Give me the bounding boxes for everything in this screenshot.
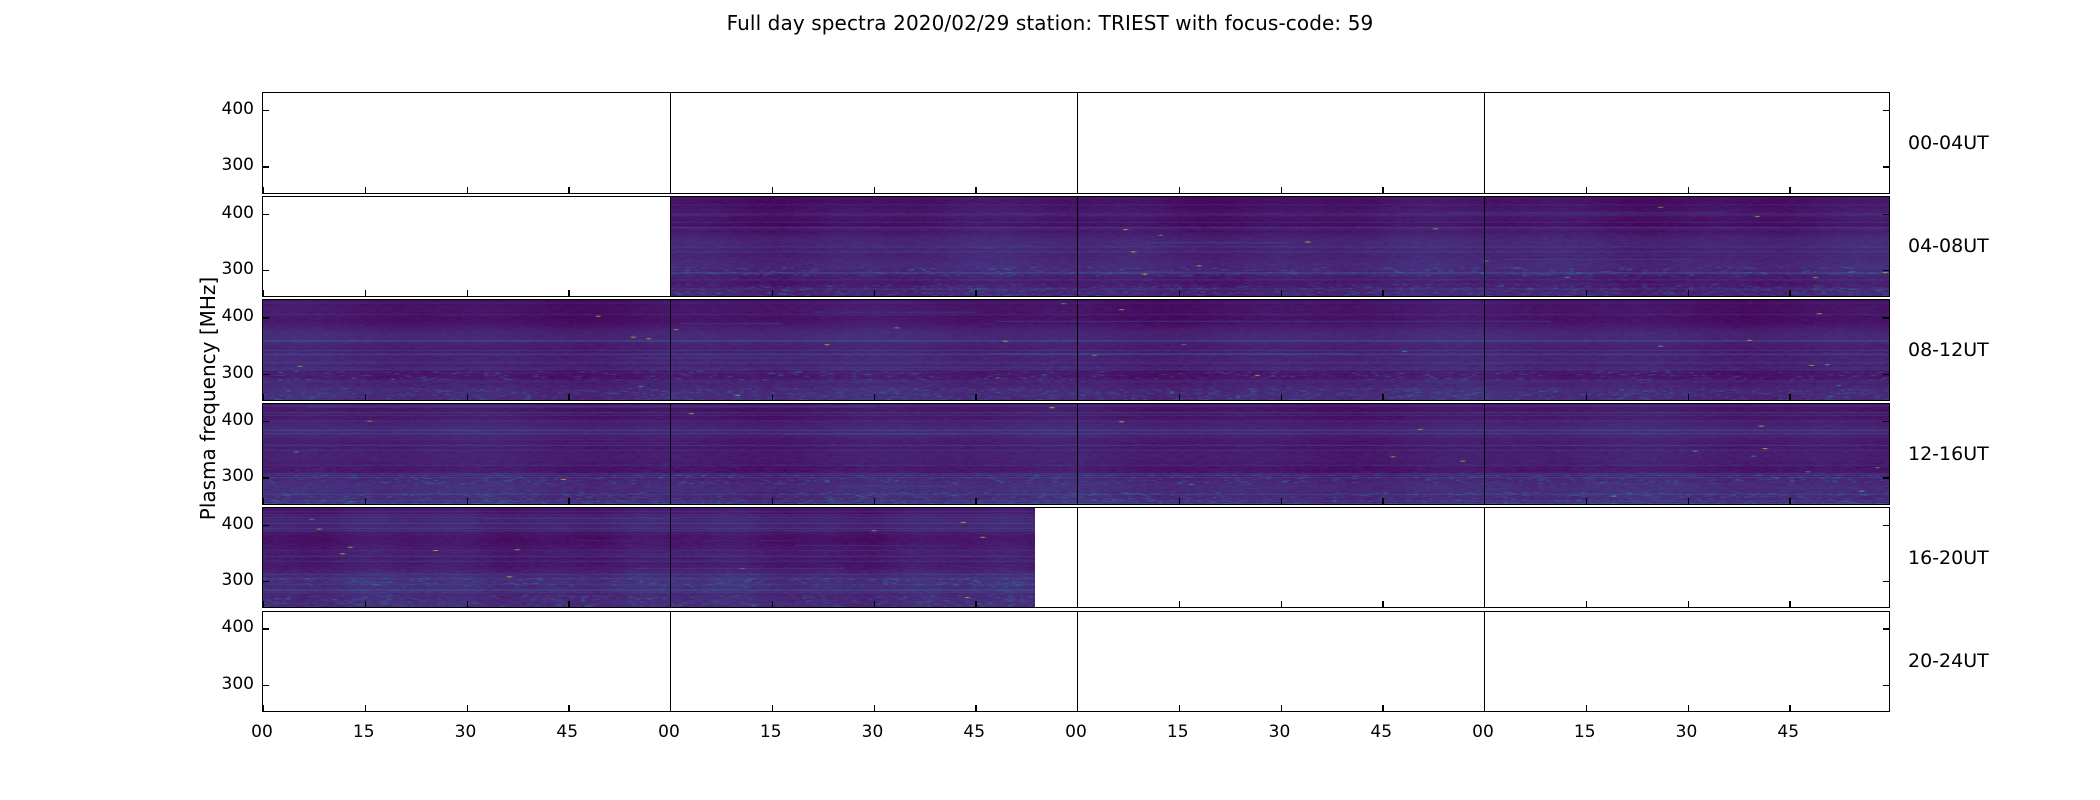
x-tick-mark	[1281, 187, 1282, 193]
x-tick-mark	[1382, 187, 1383, 193]
x-tick-mark	[263, 187, 264, 193]
x-tick-mark	[772, 290, 773, 296]
x-tick-mark	[1179, 705, 1180, 711]
x-tick-mark	[1077, 187, 1078, 193]
row-label-group: 00-04UT04-08UT08-12UT12-16UT16-20UT20-24…	[1908, 92, 2098, 712]
hour-gridline	[1484, 404, 1485, 504]
spectrogram-image	[263, 508, 1035, 608]
x-tick-mark	[975, 498, 976, 504]
x-tick-mark	[467, 394, 468, 400]
x-tick-mark	[1077, 705, 1078, 711]
x-tick-label: 30	[1269, 722, 1291, 742]
x-tick-mark	[772, 498, 773, 504]
hour-gridline	[670, 612, 671, 712]
panel-stack	[262, 92, 1890, 712]
y-tick-mark	[1883, 166, 1889, 167]
spectrogram-canvas	[670, 197, 1890, 297]
x-tick-mark	[365, 601, 366, 607]
y-tick-label: 400	[222, 410, 254, 430]
x-tick-mark	[1789, 601, 1790, 607]
page-title: Full day spectra 2020/02/29 station: TRI…	[0, 11, 2100, 35]
x-tick-mark	[975, 394, 976, 400]
spectrogram-image	[670, 197, 1890, 297]
x-tick-mark	[1586, 394, 1587, 400]
y-tick-mark	[263, 525, 269, 526]
hour-gridline	[1077, 300, 1078, 400]
hour-gridline	[670, 300, 671, 400]
spectrogram-panel[interactable]	[262, 507, 1890, 609]
x-tick-mark	[1586, 290, 1587, 296]
hour-gridline	[1484, 197, 1485, 297]
x-tick-mark	[874, 290, 875, 296]
x-tick-mark	[1484, 705, 1485, 711]
hour-gridline	[1077, 404, 1078, 504]
x-tick-mark	[365, 394, 366, 400]
x-tick-mark	[1077, 498, 1078, 504]
spectrogram-panel[interactable]	[262, 611, 1890, 713]
y-tick-mark	[263, 214, 269, 215]
y-tick-mark	[1883, 317, 1889, 318]
y-tick-mark	[263, 477, 269, 478]
row-label-12-16ut: 12-16UT	[1908, 443, 1989, 465]
x-tick-mark	[1688, 498, 1689, 504]
hour-gridline	[1077, 93, 1078, 193]
x-tick-mark	[1179, 187, 1180, 193]
x-tick-mark	[263, 601, 264, 607]
y-tick-label: 300	[222, 466, 254, 486]
x-tick-mark	[670, 498, 671, 504]
x-tick-label: 30	[862, 722, 884, 742]
x-tick-mark	[365, 290, 366, 296]
y-tick-mark	[263, 110, 269, 111]
x-tick-mark	[568, 705, 569, 711]
hour-gridline	[1484, 508, 1485, 608]
y-tick-label: 400	[222, 99, 254, 119]
y-tick-mark	[1883, 421, 1889, 422]
row-label-04-08ut: 04-08UT	[1908, 235, 1989, 257]
y-tick-mark	[263, 421, 269, 422]
y-tick-mark	[1883, 110, 1889, 111]
y-tick-label: 400	[222, 617, 254, 637]
x-tick-mark	[1179, 290, 1180, 296]
x-tick-mark	[1179, 394, 1180, 400]
x-tick-label: 15	[1574, 722, 1596, 742]
y-tick-label: 300	[222, 570, 254, 590]
spectrogram-panel[interactable]	[262, 92, 1890, 194]
x-tick-mark	[1688, 290, 1689, 296]
x-tick-mark	[1484, 498, 1485, 504]
y-tick-mark	[263, 270, 269, 271]
spectrogram-panel[interactable]	[262, 299, 1890, 401]
x-tick-mark	[365, 705, 366, 711]
y-tick-mark	[1883, 685, 1889, 686]
x-tick-mark	[975, 601, 976, 607]
x-tick-label: 15	[353, 722, 375, 742]
spectrogram-panel[interactable]	[262, 196, 1890, 298]
y-tick-label: 400	[222, 306, 254, 326]
y-tick-mark	[1883, 214, 1889, 215]
y-tick-mark	[1883, 581, 1889, 582]
x-tick-label: 45	[1777, 722, 1799, 742]
x-tick-mark	[1382, 394, 1383, 400]
x-tick-mark	[1281, 601, 1282, 607]
x-tick-mark	[1586, 601, 1587, 607]
x-tick-mark	[772, 601, 773, 607]
x-tick-mark	[1586, 187, 1587, 193]
y-tick-mark	[263, 685, 269, 686]
x-tick-mark	[1281, 394, 1282, 400]
x-tick-mark	[670, 290, 671, 296]
x-tick-mark	[1484, 187, 1485, 193]
row-label-16-20ut: 16-20UT	[1908, 547, 1989, 569]
x-tick-mark	[568, 498, 569, 504]
x-tick-mark	[874, 705, 875, 711]
x-tick-label: 00	[1065, 722, 1087, 742]
x-tick-mark	[263, 290, 264, 296]
hour-gridline	[1077, 612, 1078, 712]
x-tick-mark	[1484, 290, 1485, 296]
hour-gridline	[1484, 300, 1485, 400]
x-tick-mark	[975, 187, 976, 193]
y-tick-mark	[1883, 374, 1889, 375]
x-tick-mark	[1077, 601, 1078, 607]
x-tick-mark	[1382, 498, 1383, 504]
x-tick-mark	[263, 498, 264, 504]
x-tick-mark	[772, 705, 773, 711]
x-tick-mark	[1382, 290, 1383, 296]
x-tick-mark	[772, 394, 773, 400]
hour-gridline	[1077, 508, 1078, 608]
hour-gridline	[1484, 612, 1485, 712]
x-tick-mark	[670, 394, 671, 400]
spectrogram-panel[interactable]	[262, 403, 1890, 505]
x-tick-mark	[1382, 705, 1383, 711]
x-tick-mark	[1586, 498, 1587, 504]
hour-gridline	[670, 508, 671, 608]
y-tick-label: 400	[222, 203, 254, 223]
x-tick-mark	[1077, 394, 1078, 400]
y-tick-mark	[263, 166, 269, 167]
x-tick-mark	[975, 290, 976, 296]
x-tick-mark	[874, 601, 875, 607]
hour-gridline	[670, 197, 671, 297]
y-tick-mark	[263, 374, 269, 375]
x-tick-mark	[263, 705, 264, 711]
y-tick-label: 300	[222, 674, 254, 694]
y-tick-label-group: 400300400300400300400300400300400300	[210, 92, 254, 712]
x-tick-mark	[874, 394, 875, 400]
x-tick-mark	[365, 498, 366, 504]
x-tick-mark	[467, 498, 468, 504]
x-tick-label: 45	[556, 722, 578, 742]
x-tick-mark	[568, 394, 569, 400]
x-tick-mark	[1789, 705, 1790, 711]
hour-gridline	[670, 93, 671, 193]
x-tick-label: 45	[1370, 722, 1392, 742]
y-tick-label: 400	[222, 514, 254, 534]
y-tick-mark	[263, 628, 269, 629]
x-tick-label: 30	[1676, 722, 1698, 742]
spectrogram-canvas	[263, 508, 1035, 608]
x-tick-mark	[467, 290, 468, 296]
hour-gridline	[670, 404, 671, 504]
x-tick-label: 00	[251, 722, 273, 742]
x-tick-mark	[1789, 187, 1790, 193]
x-tick-mark	[1382, 601, 1383, 607]
x-tick-mark	[1688, 187, 1689, 193]
x-tick-mark	[263, 394, 264, 400]
y-tick-mark	[1883, 270, 1889, 271]
x-tick-mark	[1179, 601, 1180, 607]
x-tick-mark	[467, 601, 468, 607]
y-tick-mark	[263, 581, 269, 582]
x-tick-mark	[568, 290, 569, 296]
x-tick-mark	[1586, 705, 1587, 711]
x-tick-mark	[874, 187, 875, 193]
x-tick-mark	[1688, 394, 1689, 400]
row-label-20-24ut: 20-24UT	[1908, 650, 1989, 672]
x-tick-mark	[1179, 498, 1180, 504]
x-tick-mark	[670, 187, 671, 193]
x-tick-mark	[975, 705, 976, 711]
x-tick-mark	[1789, 290, 1790, 296]
x-tick-mark	[568, 601, 569, 607]
x-tick-mark	[874, 498, 875, 504]
x-tick-mark	[772, 187, 773, 193]
x-tick-mark	[1077, 290, 1078, 296]
x-tick-mark	[1789, 498, 1790, 504]
x-tick-label: 45	[963, 722, 985, 742]
x-tick-label: 00	[1472, 722, 1494, 742]
x-tick-label-group: 00153045001530450015304500153045	[262, 722, 1890, 752]
x-tick-mark	[1484, 394, 1485, 400]
x-tick-mark	[1688, 705, 1689, 711]
x-tick-mark	[670, 705, 671, 711]
y-tick-label: 300	[222, 259, 254, 279]
row-label-00-04ut: 00-04UT	[1908, 132, 1989, 154]
y-tick-label: 300	[222, 155, 254, 175]
x-tick-label: 30	[455, 722, 477, 742]
y-tick-mark	[1883, 477, 1889, 478]
y-tick-mark	[1883, 628, 1889, 629]
y-tick-mark	[1883, 525, 1889, 526]
x-tick-mark	[467, 187, 468, 193]
x-tick-label: 15	[760, 722, 782, 742]
x-tick-mark	[467, 705, 468, 711]
x-tick-mark	[568, 187, 569, 193]
y-tick-mark	[263, 317, 269, 318]
x-tick-mark	[1688, 601, 1689, 607]
x-tick-mark	[365, 187, 366, 193]
x-tick-mark	[1789, 394, 1790, 400]
x-tick-mark	[670, 601, 671, 607]
x-tick-label: 00	[658, 722, 680, 742]
spectrogram-figure: Full day spectra 2020/02/29 station: TRI…	[0, 0, 2100, 800]
y-tick-label: 300	[222, 363, 254, 383]
row-label-08-12ut: 08-12UT	[1908, 339, 1989, 361]
x-tick-mark	[1484, 601, 1485, 607]
x-tick-mark	[1281, 498, 1282, 504]
x-tick-mark	[1281, 705, 1282, 711]
x-tick-label: 15	[1167, 722, 1189, 742]
hour-gridline	[1077, 197, 1078, 297]
x-tick-mark	[1281, 290, 1282, 296]
hour-gridline	[1484, 93, 1485, 193]
